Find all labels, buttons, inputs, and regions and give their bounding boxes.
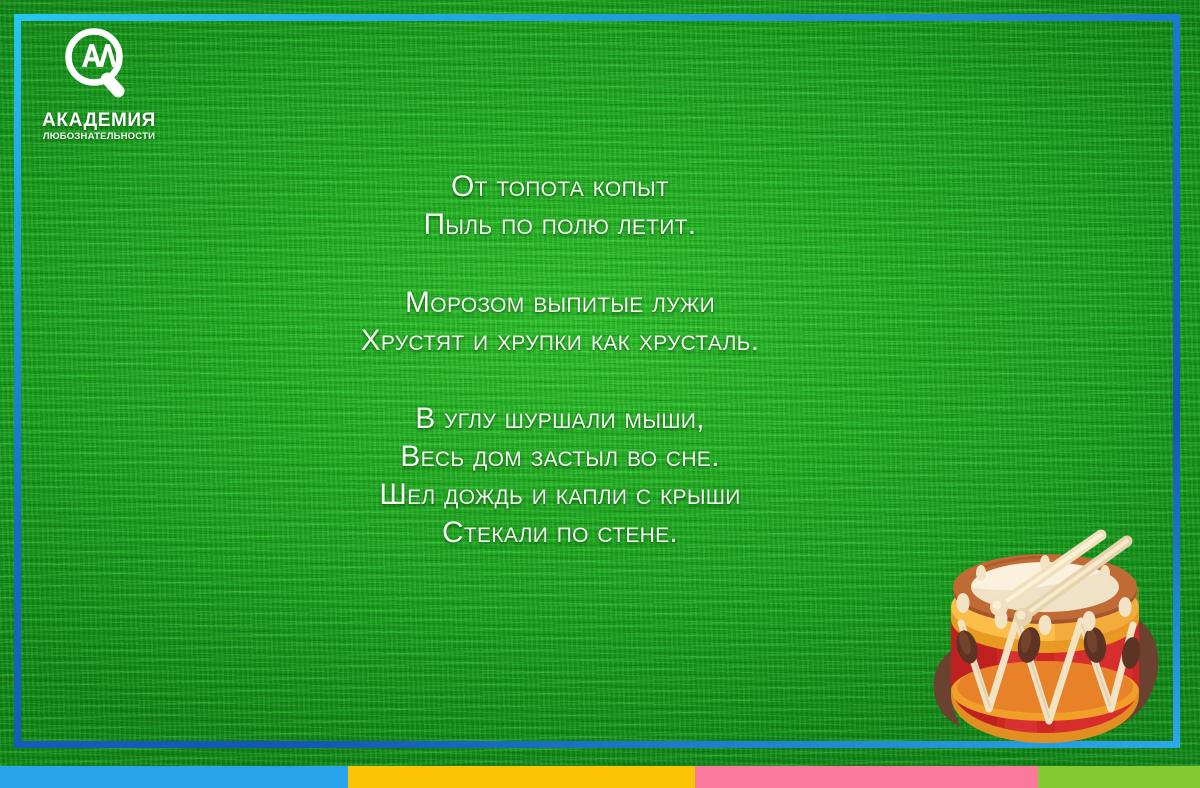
poem-line: От топота копыт (130, 168, 990, 206)
brand-name: АКАДЕМИЯ (24, 110, 174, 132)
brand-subtitle: ЛЮБОЗНАТЕЛЬНОСТИ (24, 131, 174, 142)
footer-color-strip (0, 766, 1200, 788)
poem-line: Шел дождь и капли с крыши (130, 476, 990, 514)
poem-text: От топота копыт Пыль по полю летит. Моро… (130, 168, 990, 552)
stanza-2: Морозом выпитые лужи Хрустят и хрупки ка… (130, 284, 990, 360)
poster-canvas: АКАДЕМИЯ ЛЮБОЗНАТЕЛЬНОСТИ От топота копы… (0, 0, 1200, 788)
poem-line: Пыль по полю летит. (130, 206, 990, 244)
stanza-3: В углу шуршали мыши, Весь дом застыл во … (130, 400, 990, 552)
poem-line: Весь дом застыл во сне. (130, 438, 990, 476)
poem-line: Стекали по стене. (130, 514, 990, 552)
poem-line: В углу шуршали мыши, (130, 400, 990, 438)
snare-drum-illustration (905, 495, 1185, 750)
segment-yellow (348, 766, 695, 788)
brand-logo[interactable]: АКАДЕМИЯ ЛЮБОЗНАТЕЛЬНОСТИ (24, 26, 174, 138)
segment-pink (695, 766, 1038, 788)
segment-blue (0, 766, 348, 788)
poem-line: Морозом выпитые лужи (130, 284, 990, 322)
segment-green (1038, 766, 1200, 788)
magnifier-icon (60, 26, 138, 100)
poem-line: Хрустят и хрупки как хрусталь. (130, 322, 990, 360)
stanza-1: От топота копыт Пыль по полю летит. (130, 168, 990, 244)
